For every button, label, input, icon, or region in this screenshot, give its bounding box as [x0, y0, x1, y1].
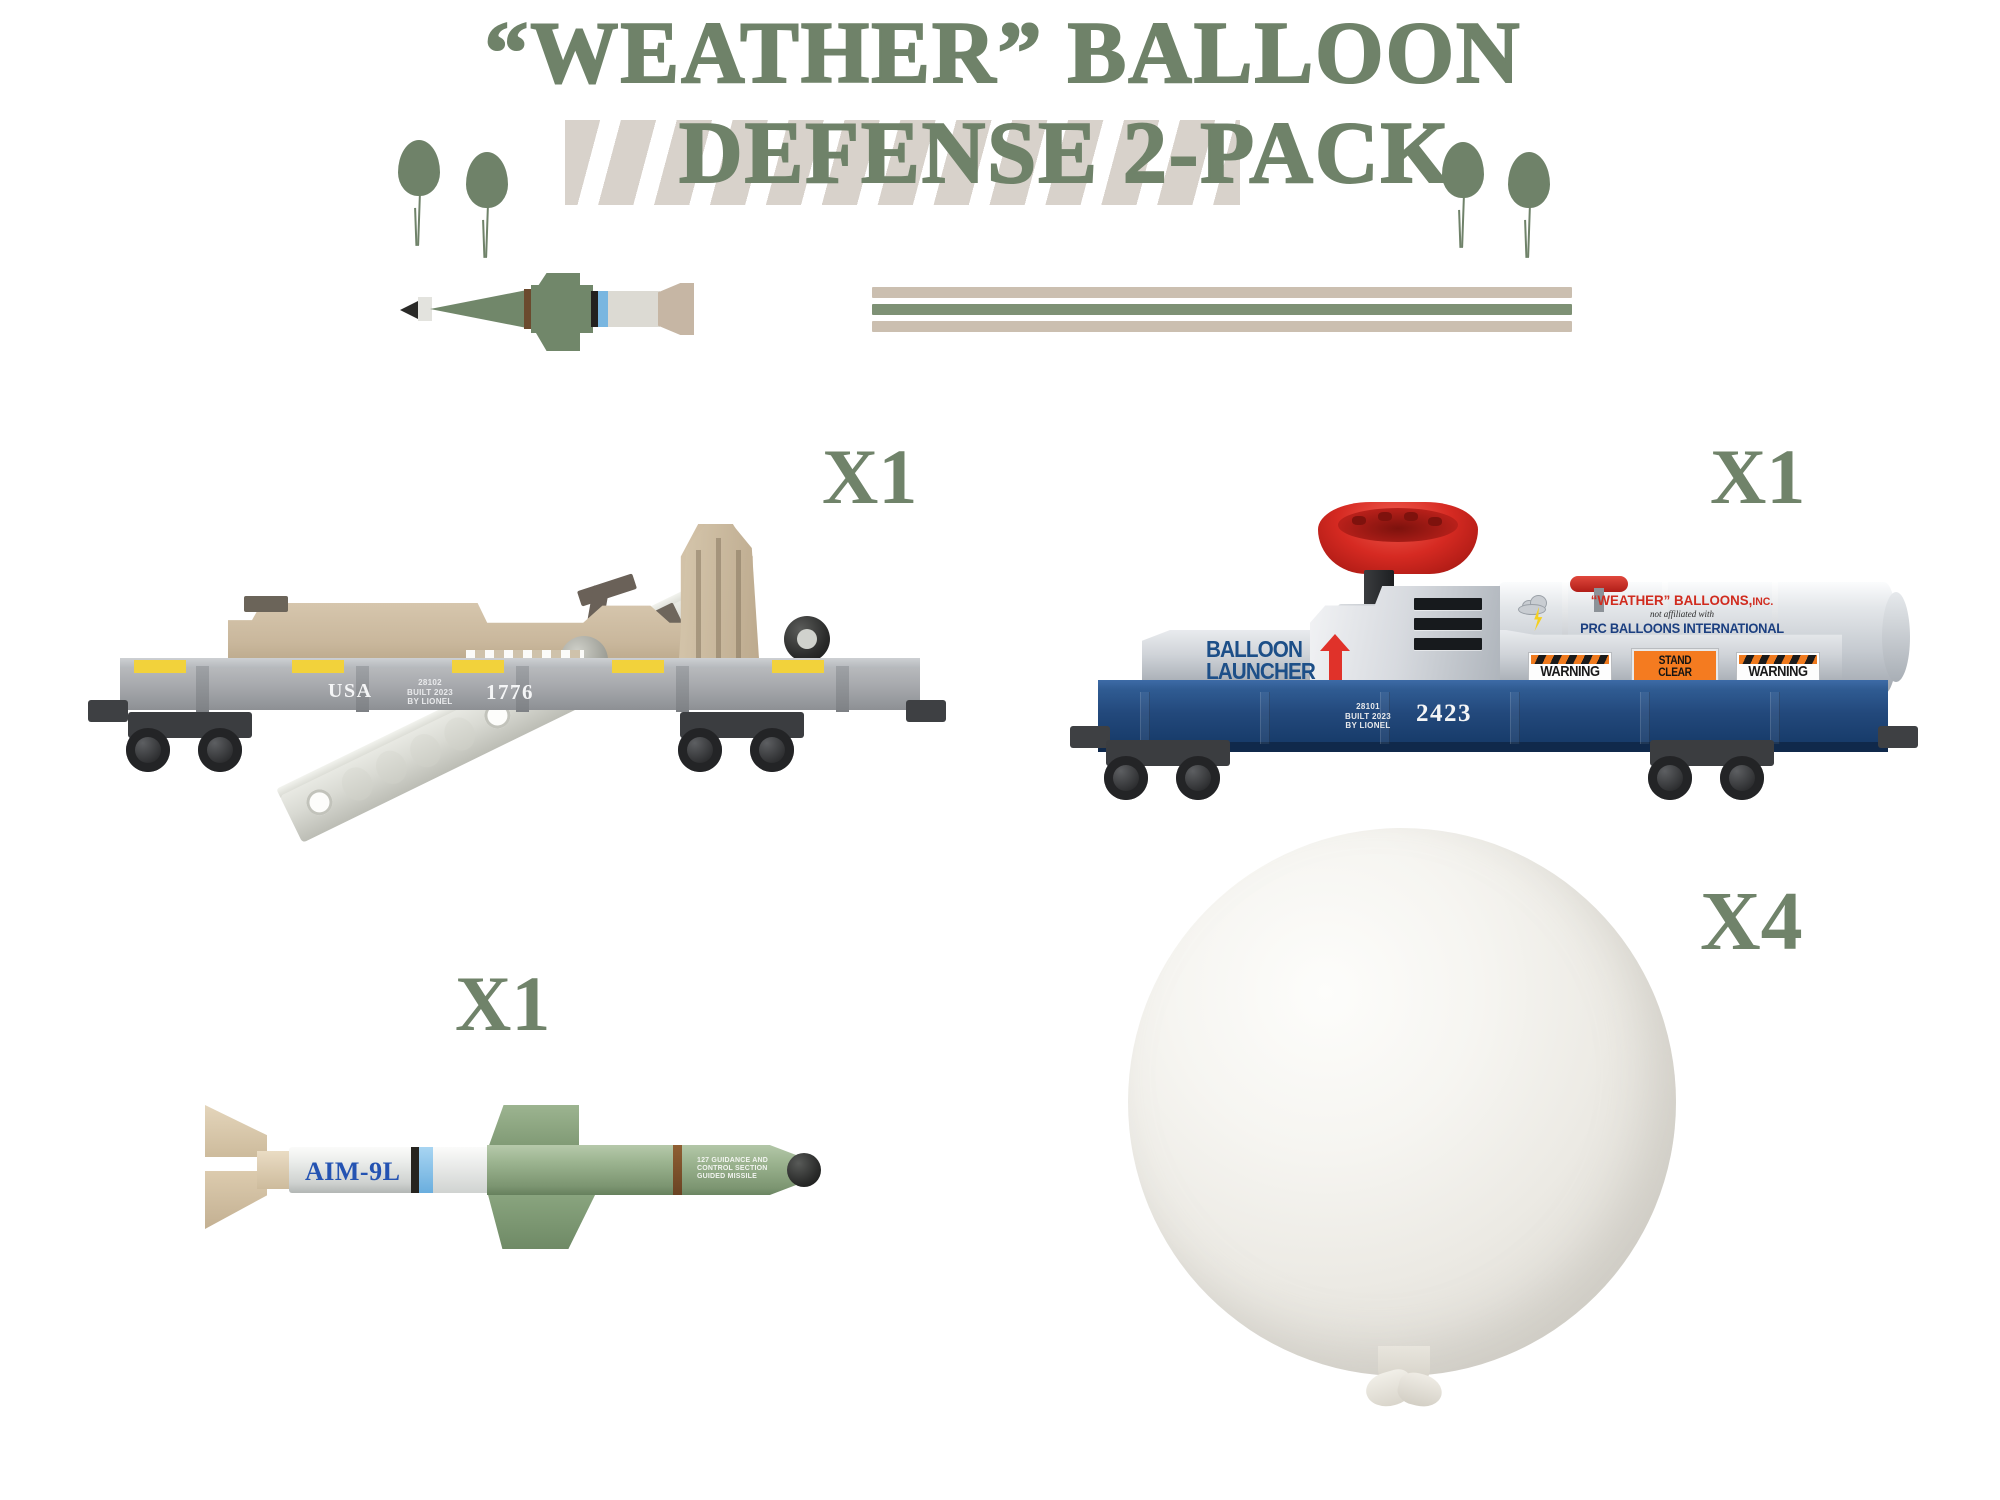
logo-inc-suffix: INC. [1752, 596, 1773, 608]
balloon-icon-bulb [1442, 142, 1484, 198]
missile-seeker-nose [787, 1153, 821, 1187]
missile-stencil-line-1: 127 GUIDANCE AND [697, 1157, 768, 1165]
car-built-line-1: BUILT 2023 [400, 688, 460, 697]
deck-stake-pocket [676, 666, 689, 712]
car-road-number: 2423 [1416, 700, 1472, 728]
decorative-divider-row [0, 275, 2000, 345]
wheel [750, 728, 794, 772]
wheel [126, 728, 170, 772]
deck-rib [1640, 692, 1650, 744]
tank-end-cap [1882, 592, 1910, 682]
deck-stake-pocket [196, 666, 209, 712]
car-superstructure: BALLOON LAUNCHER “WEATHER” BALLOONS,INC.… [1142, 586, 1842, 692]
dish-slot [1404, 512, 1418, 521]
car-reporting-mark: USA [328, 680, 373, 703]
divider-rule-top [872, 287, 1572, 298]
missile-icon-fin-bottom [536, 333, 580, 351]
dish-interior [1338, 508, 1458, 542]
balloon-neck [1364, 1346, 1444, 1410]
dish-slot [1378, 512, 1392, 521]
truck-assembly-right [676, 712, 808, 774]
page-title-line-1: “WEATHER” BALLOON [6, 10, 2000, 98]
product-item-missile-launcher-flatcar: USA 28102 BUILT 2023 BY LIONEL 1776 [100, 360, 980, 790]
divider-rule-bottom [872, 321, 1572, 332]
product-item-aim9l-missile: AIM-9L 127 GUIDANCE AND CONTROL SECTION … [205, 1095, 825, 1255]
intake-vent [1414, 598, 1482, 610]
wheel [678, 728, 722, 772]
wheel [1176, 756, 1220, 800]
cab-rib [736, 550, 741, 674]
missile-icon-aftbody [608, 291, 660, 327]
wheel [1720, 756, 1764, 800]
missile-mid-body [433, 1147, 491, 1193]
coupler-right [906, 700, 946, 722]
page-title-line-2: DEFENSE 2-PACK [0, 110, 2000, 198]
missile-stencil-line-3: GUIDED MISSILE [697, 1173, 768, 1181]
missile-mid-fin-bottom [487, 1191, 597, 1249]
product-contents-image: “WEATHER” BALLOON DEFENSE 2-PACK [0, 0, 2000, 1500]
product-item-latex-balloon [1128, 828, 1676, 1376]
balloon-icon-string [485, 206, 489, 258]
missile-icon-tail [658, 283, 694, 335]
car-road-number: 1776 [486, 680, 534, 705]
warning-text: WARNING [1744, 664, 1811, 680]
cab-rib [716, 538, 721, 674]
deck-marker-yellow [292, 660, 344, 673]
deck-stake-pocket [836, 666, 849, 712]
deck-marker-yellow [772, 660, 824, 673]
title-block: “WEATHER” BALLOON DEFENSE 2-PACK [0, 10, 2000, 212]
up-arrow-icon [1320, 634, 1350, 682]
page-title-line-2-wrapper: DEFENSE 2-PACK [0, 102, 2000, 212]
weather-balloons-logo: “WEATHER” BALLOONS,INC. not affiliated w… [1522, 592, 1842, 636]
cab-rib [696, 550, 701, 674]
car-built-line-1: BUILT 2023 [1338, 712, 1398, 721]
missile-tail-fin-top [205, 1105, 267, 1157]
logo-line-1: “WEATHER” BALLOONS,INC. [1530, 592, 1834, 608]
car-built-line-2: BY LIONEL [1338, 721, 1398, 730]
truck-assembly-left [124, 712, 256, 774]
dish-slot [1352, 516, 1366, 525]
car-built-line-2: BY LIONEL [400, 697, 460, 706]
missile-icon-body [531, 285, 593, 333]
balloon-icon-string [1527, 206, 1531, 258]
up-arrow-shaft [1329, 648, 1342, 682]
missile-dark-band [411, 1147, 419, 1193]
balloon-icon [1508, 152, 1550, 208]
stand-clear-line-1: STAND CLEAR [1644, 654, 1707, 678]
deck-marker-yellow [134, 660, 186, 673]
quantity-balloon-car: X1 [1710, 438, 1805, 516]
wheel [1648, 756, 1692, 800]
quantity-missile: X1 [455, 965, 550, 1043]
deck-marker-yellow [612, 660, 664, 673]
wheel [1104, 756, 1148, 800]
deck-rib [1770, 692, 1780, 744]
warning-text: WARNING [1536, 664, 1603, 680]
logo-line-2: not affiliated with [1522, 609, 1842, 619]
beam-mount-pad [244, 596, 288, 612]
winch-hub [797, 629, 817, 649]
car-catalog-number: 28101 [1338, 702, 1398, 711]
deck-rib [1510, 692, 1520, 744]
balloon-body [1128, 828, 1676, 1376]
intake-vent [1414, 638, 1482, 650]
missile-stencil-text: 127 GUIDANCE AND CONTROL SECTION GUIDED … [697, 1157, 768, 1181]
launcher-control-cab-fin [678, 524, 760, 674]
wheel [198, 728, 242, 772]
launcher-rail-beam [260, 553, 730, 871]
balloon-icon-string [417, 194, 421, 246]
missile-icon-fin-top [536, 273, 580, 289]
logo-company-name: “WEATHER” BALLOONS, [1591, 592, 1753, 608]
quantity-balloons: X4 [1700, 880, 1803, 964]
missile-blue-band [419, 1147, 433, 1193]
quantity-launcher-car: X1 [822, 438, 917, 516]
missile-tail-cone [257, 1151, 291, 1189]
missile-stencil-line-2: CONTROL SECTION [697, 1165, 768, 1173]
coupler-left [88, 700, 128, 722]
missile-main-body [487, 1145, 677, 1195]
balloon-launcher-label-line-1: BALLOON [1206, 638, 1315, 660]
intake-vent [1414, 618, 1482, 630]
balloon-launcher-lettering: BALLOON LAUNCHER [1206, 638, 1327, 682]
missile-icon-forebody [430, 289, 532, 329]
balloon-icon [398, 140, 440, 196]
balloon-icon-bulb [398, 140, 440, 196]
balloon-neck-lip-right [1395, 1369, 1445, 1411]
missile-icon [400, 277, 720, 343]
truck-assembly-right [1646, 740, 1778, 802]
divider-rule-middle [872, 304, 1572, 315]
missile-icon-dark-band [591, 291, 598, 327]
balloon-icon [1442, 142, 1484, 198]
deck-rib [1260, 692, 1270, 744]
balloon-icon-bulb [1508, 152, 1550, 208]
coupler-right [1878, 726, 1918, 748]
missile-designation-marking: AIM-9L [305, 1157, 400, 1187]
balloon-launcher-label-line-2: LAUNCHER [1206, 660, 1315, 682]
truck-assembly-left [1102, 740, 1234, 802]
balloon-icon-bulb [466, 152, 508, 208]
logo-line-3: PRC BALLOONS INTERNATIONAL [1535, 620, 1829, 636]
missile-icon-blue-band [598, 291, 608, 327]
balloon-icon-string [1461, 196, 1465, 248]
deck-marker-yellow [452, 660, 504, 673]
balloon-icon [466, 152, 508, 208]
deck-rib [1140, 692, 1150, 744]
dish-slot [1428, 517, 1442, 526]
car-catalog-number: 28102 [400, 678, 460, 687]
